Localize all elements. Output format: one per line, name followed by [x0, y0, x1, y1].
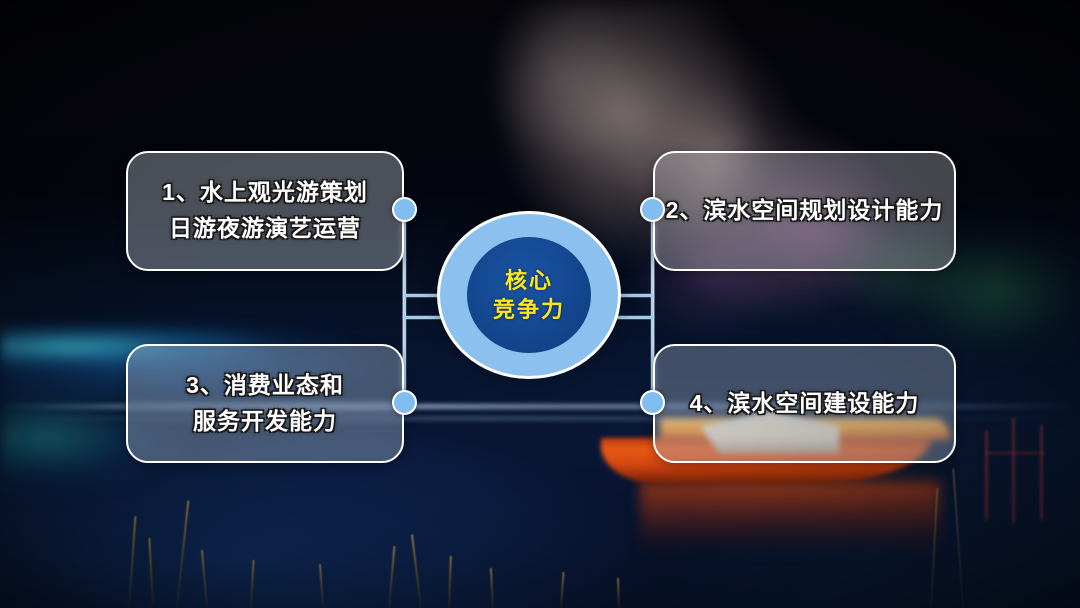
node-card-2[interactable]: 2、滨水空间规划设计能力 [653, 151, 956, 271]
core-hub-inner: 核心 竞争力 [467, 237, 591, 353]
node-card-1[interactable]: 1、水上观光游策划 日游夜游演艺运营 [126, 151, 404, 271]
core-hub-line2: 竞争力 [493, 296, 565, 324]
connector-dot-node-3[interactable] [392, 390, 417, 415]
node-card-4-line1: 4、滨水空间建设能力 [690, 386, 920, 422]
node-card-2-line1: 2、滨水空间规划设计能力 [666, 193, 944, 229]
node-card-3-line1: 3、消费业态和 [186, 368, 344, 404]
slide-canvas: 1、水上观光游策划 日游夜游演艺运营 2、滨水空间规划设计能力 3、消费业态和 … [0, 0, 1080, 608]
core-hub[interactable]: 核心 竞争力 [437, 211, 621, 379]
node-card-3-line2: 服务开发能力 [193, 404, 337, 440]
node-card-3[interactable]: 3、消费业态和 服务开发能力 [126, 344, 404, 463]
core-hub-line1: 核心 [505, 267, 553, 295]
connector-dot-node-4[interactable] [640, 390, 665, 415]
connector-dot-node-1[interactable] [392, 197, 417, 222]
connector-dot-node-2[interactable] [640, 197, 665, 222]
core-competitiveness-diagram: 1、水上观光游策划 日游夜游演艺运营 2、滨水空间规划设计能力 3、消费业态和 … [0, 0, 1080, 608]
node-card-4[interactable]: 4、滨水空间建设能力 [653, 344, 956, 463]
node-card-1-line1: 1、水上观光游策划 [162, 175, 368, 211]
node-card-1-line2: 日游夜游演艺运营 [169, 211, 361, 247]
